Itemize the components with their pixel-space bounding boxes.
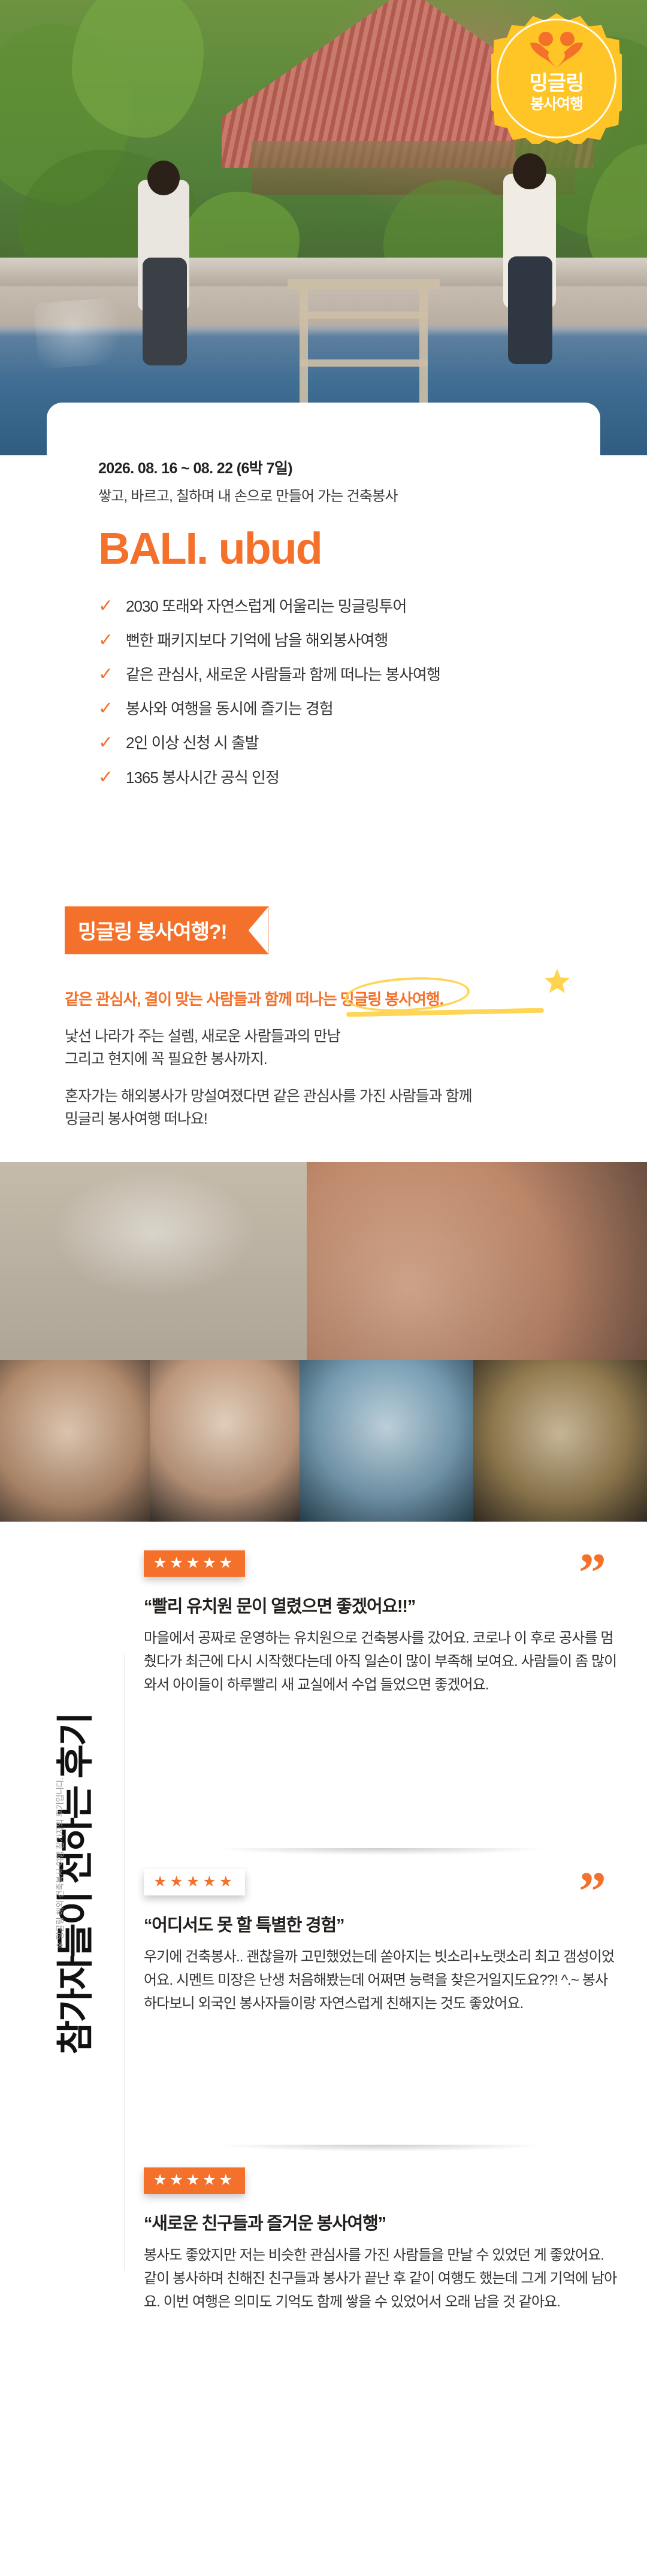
badge-line-1: 밍글링 xyxy=(491,72,622,95)
pitch-paragraph: 낯선 나라가 주는 설렘, 새로운 사람들과의 만남 그리고 현지에 꼭 필요한… xyxy=(65,1025,592,1071)
review-card: ★★★★★ ” “빨리 유치원 문이 열렸으면 좋겠어요!!” 마을에서 공짜로… xyxy=(144,1550,617,1697)
feature-label: 2030 또래와 자연스럽게 어울리는 밍글링투어 xyxy=(126,597,406,616)
photo-row xyxy=(0,1162,647,1360)
reviews-note: ※ 밍글링 해외 건축봉사 여행 참가자의 후기입니다. xyxy=(54,1653,66,2073)
review-title: “빨리 유치원 문이 열렸으면 좋겠어요!!” xyxy=(144,1592,617,1617)
volunteer-head xyxy=(513,153,546,189)
trip-dates: 2026. 08. 16 ~ 08. 22 (6박 7일) xyxy=(98,456,549,478)
review-card: ★★★★★ ” “어디서도 못 할 특별한 경험” 우기에 건축봉사.. 괜찮을… xyxy=(144,1869,617,2016)
feature-item: ✓ 같은 관심사, 새로운 사람들과 함께 떠나는 봉사여행 xyxy=(98,666,549,684)
team-hardhat-photo xyxy=(473,1360,647,1522)
feature-item: ✓ 2인 이상 신청 시 출발 xyxy=(98,734,549,752)
section-ribbon-wrapper: 밍글링 봉사여행?! xyxy=(65,906,269,954)
reviews-vertical-title: 참가자들이 전하는 후기 xyxy=(45,1573,99,2196)
landing-page: 밍글링 봉사여행 2026. 08. 16 ~ 08. 22 (6박 7일) 쌓… xyxy=(0,0,647,2576)
selfie-group-photo xyxy=(150,1360,300,1522)
star-icon xyxy=(544,968,570,994)
badge-line-2: 봉사여행 xyxy=(491,95,622,113)
scaffold-post xyxy=(419,282,428,419)
trip-subtitle: 쌓고, 바르고, 칠하며 내 손으로 만들어 가는 건축봉사 xyxy=(98,484,549,505)
review-separator xyxy=(151,2145,612,2154)
pitch-paragraph: 혼자가는 해외봉사가 망설여졌다면 같은 관심사를 가진 사람들과 함께 밍글리… xyxy=(65,1085,592,1130)
review-title: “새로운 친구들과 즐거운 봉사여행” xyxy=(144,2209,617,2235)
check-icon: ✓ xyxy=(98,631,114,649)
group-meal-photo xyxy=(307,1162,647,1360)
masked-volunteers-photo xyxy=(300,1360,473,1522)
feature-list: ✓ 2030 또래와 자연스럽게 어울리는 밍글링투어 ✓ 뻔한 패키지보다 기… xyxy=(98,597,549,787)
check-icon: ✓ xyxy=(98,597,114,615)
feature-label: 뻔한 패키지보다 기억에 남을 해외봉사여행 xyxy=(126,631,388,650)
hero-section: 밍글링 봉사여행 xyxy=(0,0,647,455)
review-body: 우기에 건축봉사.. 괜찮을까 고민했었는데 쏟아지는 빗소리+노랫소리 최고 … xyxy=(144,1946,617,2016)
scaffold-rail xyxy=(300,359,428,367)
feature-label: 봉사와 여행을 동시에 즐기는 경험 xyxy=(126,700,333,718)
scaffold-rail xyxy=(300,312,428,319)
check-icon: ✓ xyxy=(98,769,114,787)
review-title: “어디서도 못 할 특별한 경험” xyxy=(144,1911,617,1936)
feature-label: 같은 관심사, 새로운 사람들과 함께 떠나는 봉사여행 xyxy=(126,666,440,684)
rating-stars: ★★★★★ xyxy=(144,2167,245,2194)
review-card: ★★★★★ “새로운 친구들과 즐거운 봉사여행” 봉사도 좋았지만 저는 비슷… xyxy=(144,2167,617,2314)
check-icon: ✓ xyxy=(98,734,114,752)
destination-title: BALI. ubud xyxy=(98,525,549,572)
badge-text: 밍글링 봉사여행 xyxy=(491,72,622,113)
check-icon: ✓ xyxy=(98,666,114,684)
check-icon: ✓ xyxy=(98,700,114,718)
quote-icon: ” xyxy=(579,1553,606,1592)
volunteer-head xyxy=(147,161,180,195)
people-heart-icon xyxy=(524,31,589,68)
pitch-body: 낯선 나라가 주는 설렘, 새로운 사람들과의 만남 그리고 현지에 꼭 필요한… xyxy=(65,1025,592,1130)
volunteer-lower xyxy=(143,258,187,365)
volunteer-lower xyxy=(508,256,552,364)
review-body: 마을에서 공짜로 운영하는 유치원으로 건축봉사를 갔어요. 코로나 이 후로 … xyxy=(144,1627,617,1697)
trip-info-card: 2026. 08. 16 ~ 08. 22 (6박 7일) 쌓고, 바르고, 칠… xyxy=(47,403,600,803)
photo-gallery xyxy=(0,1162,647,1522)
rating-stars: ★★★★★ xyxy=(144,1869,245,1895)
feature-item: ✓ 봉사와 여행을 동시에 즐기는 경험 xyxy=(98,700,549,718)
scaffold-plank xyxy=(288,279,440,289)
reviews-vertical-title-block: 참가자들이 전하는 후기 ※ 밍글링 해외 건축봉사 여행 참가자의 후기입니다… xyxy=(0,1522,129,2294)
review-separator xyxy=(151,1848,612,1858)
photo-row xyxy=(0,1360,647,1522)
friends-outdoor-photo xyxy=(0,1360,150,1522)
review-body: 봉사도 좋았지만 저는 비슷한 관심사를 가진 사람들을 만날 수 있었던 게 … xyxy=(144,2244,617,2314)
feature-item: ✓ 1365 봉사시간 공식 인정 xyxy=(98,769,549,787)
feature-label: 2인 이상 신청 시 출발 xyxy=(126,734,259,752)
feature-item: ✓ 뻔한 패키지보다 기억에 남을 해외봉사여행 xyxy=(98,631,549,650)
classroom-volunteer-photo xyxy=(0,1162,307,1360)
reviews-section: 참가자들이 전하는 후기 ※ 밍글링 해외 건축봉사 여행 참가자의 후기입니다… xyxy=(0,1522,647,2576)
feature-label: 1365 봉사시간 공식 인정 xyxy=(126,769,279,787)
pitch-section: 같은 관심사, 결이 맞는 사람들과 함께 떠나는 밍글링 봉사여행. 낯선 나… xyxy=(65,987,592,1130)
reviews-divider-line xyxy=(125,1653,125,2270)
wall-graffiti xyxy=(34,296,146,369)
quote-icon: ” xyxy=(579,1871,606,1911)
rating-stars: ★★★★★ xyxy=(144,1550,245,1577)
section-ribbon: 밍글링 봉사여행?! xyxy=(65,906,269,954)
pitch-heading: 같은 관심사, 결이 맞는 사람들과 함께 떠나는 밍글링 봉사여행. xyxy=(65,987,443,1009)
feature-item: ✓ 2030 또래와 자연스럽게 어울리는 밍글링투어 xyxy=(98,597,549,616)
brand-badge: 밍글링 봉사여행 xyxy=(491,13,622,144)
scaffold-post xyxy=(300,282,308,419)
